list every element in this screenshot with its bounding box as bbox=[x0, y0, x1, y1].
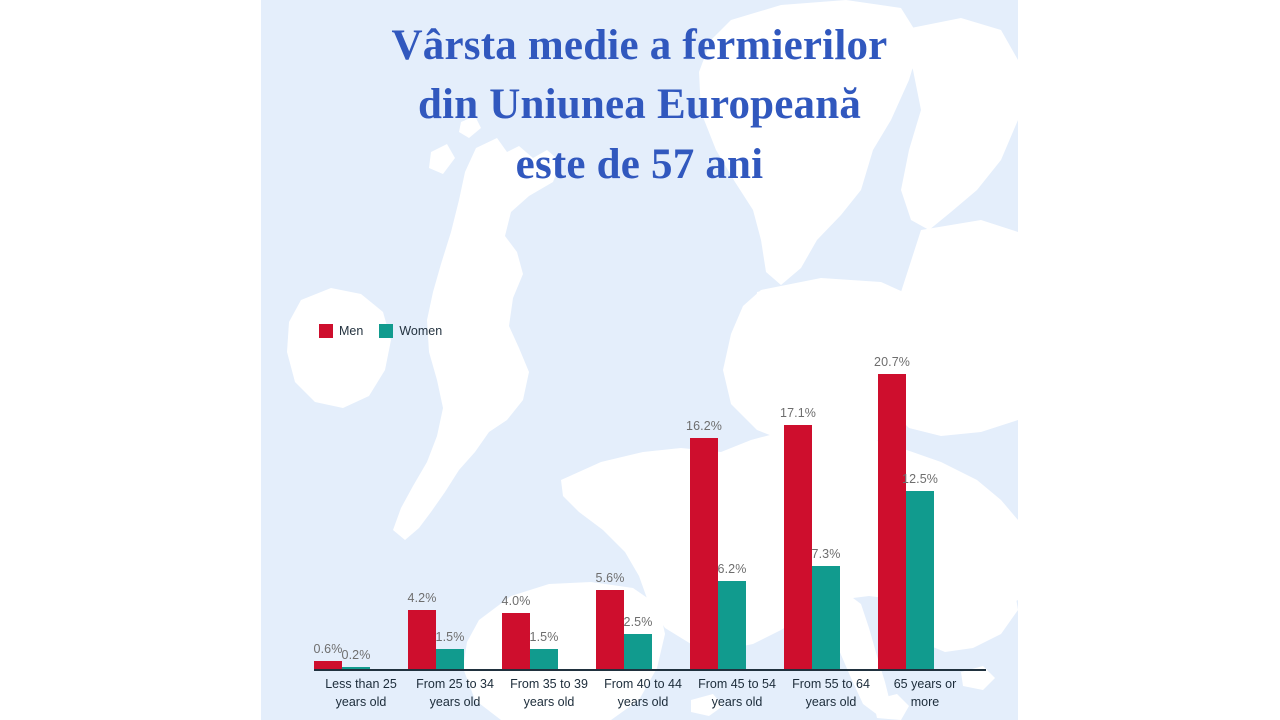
bar-rect-men[interactable] bbox=[502, 613, 530, 670]
bar-value-label: 4.2% bbox=[408, 591, 437, 605]
bar-group: 17.1%7.3% bbox=[784, 340, 878, 670]
bar-rect-women[interactable] bbox=[812, 566, 840, 670]
plot-area: 0.6%0.2%4.2%1.5%4.0%1.5%5.6%2.5%16.2%6.2… bbox=[314, 340, 986, 670]
women-swatch-icon bbox=[379, 324, 393, 338]
bar-men[interactable]: 17.1% bbox=[784, 340, 812, 670]
bar-group: 16.2%6.2% bbox=[690, 340, 784, 670]
x-axis-category-label: From 25 to 34years old bbox=[408, 676, 502, 712]
bar-value-label: 12.5% bbox=[902, 472, 938, 486]
legend-item-men: Men bbox=[319, 324, 363, 338]
bar-group: 20.7%12.5% bbox=[878, 340, 972, 670]
bar-men[interactable]: 4.0% bbox=[502, 340, 530, 670]
x-axis-category-label: From 55 to 64years old bbox=[784, 676, 878, 712]
bar-men[interactable]: 5.6% bbox=[596, 340, 624, 670]
bar-rect-men[interactable] bbox=[690, 438, 718, 670]
title-line-1: Vârsta medie a fermierilor bbox=[261, 16, 1018, 75]
legend-item-women: Women bbox=[379, 324, 442, 338]
bar-value-label: 16.2% bbox=[686, 419, 722, 433]
bar-rect-women[interactable] bbox=[718, 581, 746, 670]
title-line-3: este de 57 ani bbox=[261, 135, 1018, 194]
x-axis-baseline bbox=[314, 669, 986, 671]
bar-rect-women[interactable] bbox=[624, 634, 652, 670]
bar-women[interactable]: 6.2% bbox=[718, 340, 746, 670]
bar-group: 5.6%2.5% bbox=[596, 340, 690, 670]
bar-value-label: 2.5% bbox=[624, 615, 653, 629]
bar-group: 0.6%0.2% bbox=[314, 340, 408, 670]
bar-men[interactable]: 0.6% bbox=[314, 340, 342, 670]
bar-women[interactable]: 7.3% bbox=[812, 340, 840, 670]
bar-rect-women[interactable] bbox=[906, 491, 934, 670]
x-axis-labels: Less than 25years oldFrom 25 to 34years … bbox=[314, 676, 986, 720]
title-line-2: din Uniunea Europeană bbox=[261, 75, 1018, 134]
bar-value-label: 1.5% bbox=[436, 630, 465, 644]
infographic-canvas: Vârsta medie a fermierilor din Uniunea E… bbox=[0, 0, 1280, 720]
bar-rect-women[interactable] bbox=[436, 649, 464, 670]
x-axis-category-label: From 40 to 44years old bbox=[596, 676, 690, 712]
bar-women[interactable]: 1.5% bbox=[530, 340, 558, 670]
bar-value-label: 6.2% bbox=[718, 562, 747, 576]
bar-value-label: 5.6% bbox=[596, 571, 625, 585]
bar-value-label: 7.3% bbox=[812, 547, 841, 561]
chart-legend: Men Women bbox=[319, 324, 442, 338]
bar-men[interactable]: 4.2% bbox=[408, 340, 436, 670]
bar-rect-men[interactable] bbox=[596, 590, 624, 670]
bar-value-label: 4.0% bbox=[502, 594, 531, 608]
x-axis-category-label: Less than 25years old bbox=[314, 676, 408, 712]
bar-rect-women[interactable] bbox=[530, 649, 558, 670]
legend-label-women: Women bbox=[399, 324, 442, 338]
x-axis-category-label: From 35 to 39years old bbox=[502, 676, 596, 712]
men-swatch-icon bbox=[319, 324, 333, 338]
page-title: Vârsta medie a fermierilor din Uniunea E… bbox=[261, 16, 1018, 194]
bar-women[interactable]: 1.5% bbox=[436, 340, 464, 670]
bar-value-label: 20.7% bbox=[874, 355, 910, 369]
bar-rect-men[interactable] bbox=[784, 425, 812, 670]
bar-value-label: 0.6% bbox=[314, 642, 343, 656]
content-panel: Vârsta medie a fermierilor din Uniunea E… bbox=[261, 0, 1018, 720]
bar-men[interactable]: 20.7% bbox=[878, 340, 906, 670]
bar-group: 4.2%1.5% bbox=[408, 340, 502, 670]
bar-rect-men[interactable] bbox=[408, 610, 436, 670]
x-axis-category-label: From 45 to 54years old bbox=[690, 676, 784, 712]
legend-label-men: Men bbox=[339, 324, 363, 338]
bar-rect-men[interactable] bbox=[878, 374, 906, 670]
bar-value-label: 0.2% bbox=[342, 648, 371, 662]
bar-men[interactable]: 16.2% bbox=[690, 340, 718, 670]
bar-women[interactable]: 12.5% bbox=[906, 340, 934, 670]
bar-women[interactable]: 0.2% bbox=[342, 340, 370, 670]
bar-value-label: 1.5% bbox=[530, 630, 559, 644]
bar-value-label: 17.1% bbox=[780, 406, 816, 420]
bar-group: 4.0%1.5% bbox=[502, 340, 596, 670]
bar-women[interactable]: 2.5% bbox=[624, 340, 652, 670]
x-axis-category-label: 65 years ormore bbox=[878, 676, 972, 712]
